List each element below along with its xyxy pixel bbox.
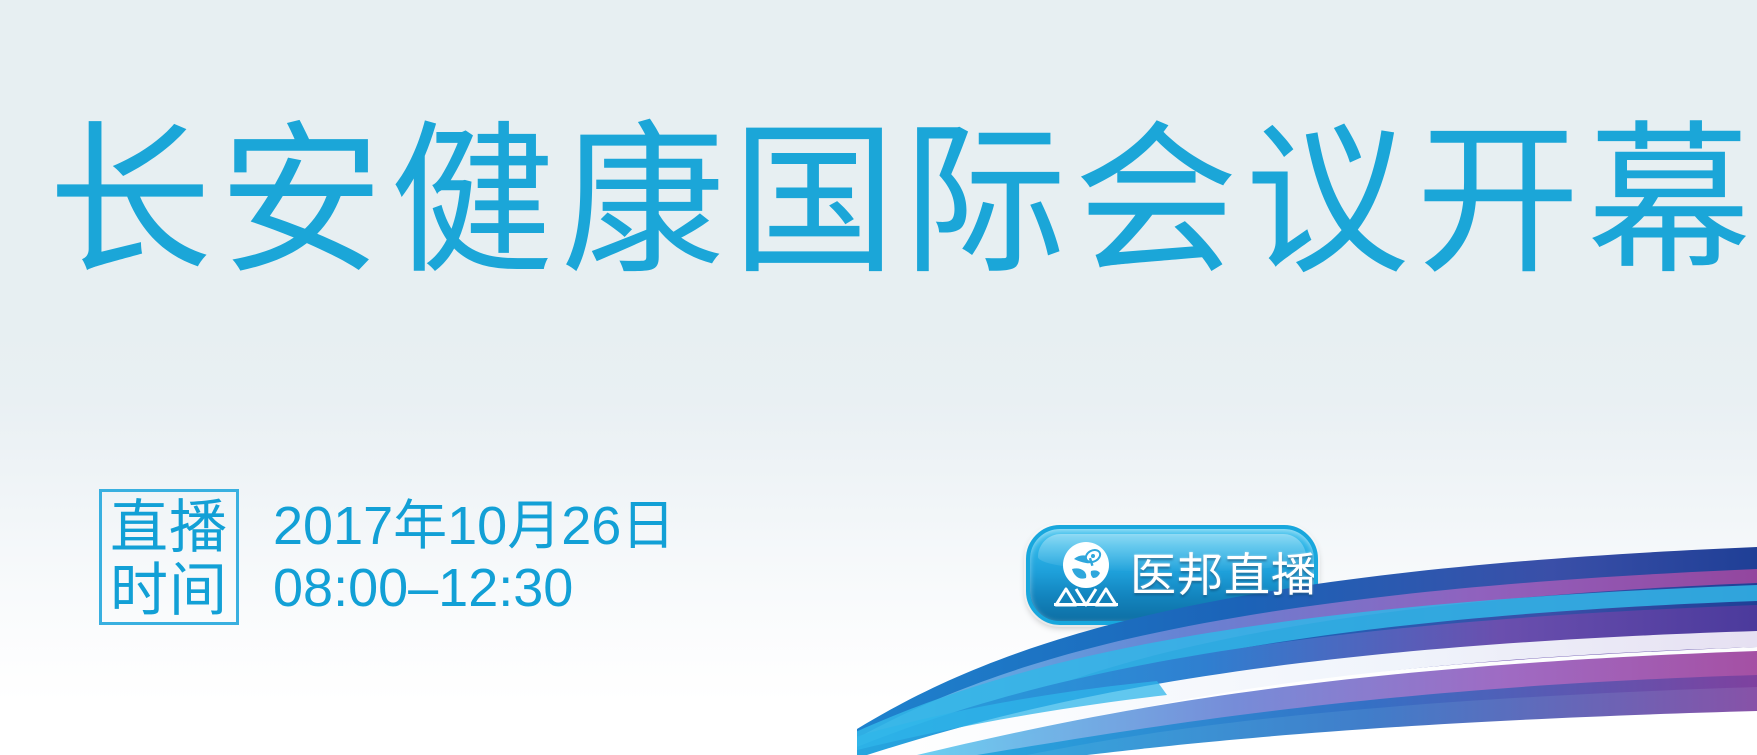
live-date: 2017年10月26日 <box>273 495 675 557</box>
live-time-label-line-2: 时间 <box>110 559 228 622</box>
live-time-label-line-1: 直播 <box>110 496 228 559</box>
live-time-values: 2017年10月26日 08:00–12:30 <box>273 489 675 619</box>
live-time-label-box: 直播 时间 <box>99 489 239 625</box>
live-time-range: 08:00–12:30 <box>273 557 675 619</box>
page-title: 长安健康国际会议开幕式 <box>48 107 1728 297</box>
brand-logo-button[interactable]: 医邦直播 <box>1026 525 1318 625</box>
live-time-block: 直播 时间 2017年10月26日 08:00–12:30 <box>99 489 675 625</box>
globe-satellite-icon <box>1048 539 1124 611</box>
brand-name-label: 医邦直播 <box>1130 550 1318 600</box>
live-stream-banner: 长安健康国际会议开幕式 直播 时间 2017年10月26日 08:00–12:3… <box>0 0 1757 755</box>
